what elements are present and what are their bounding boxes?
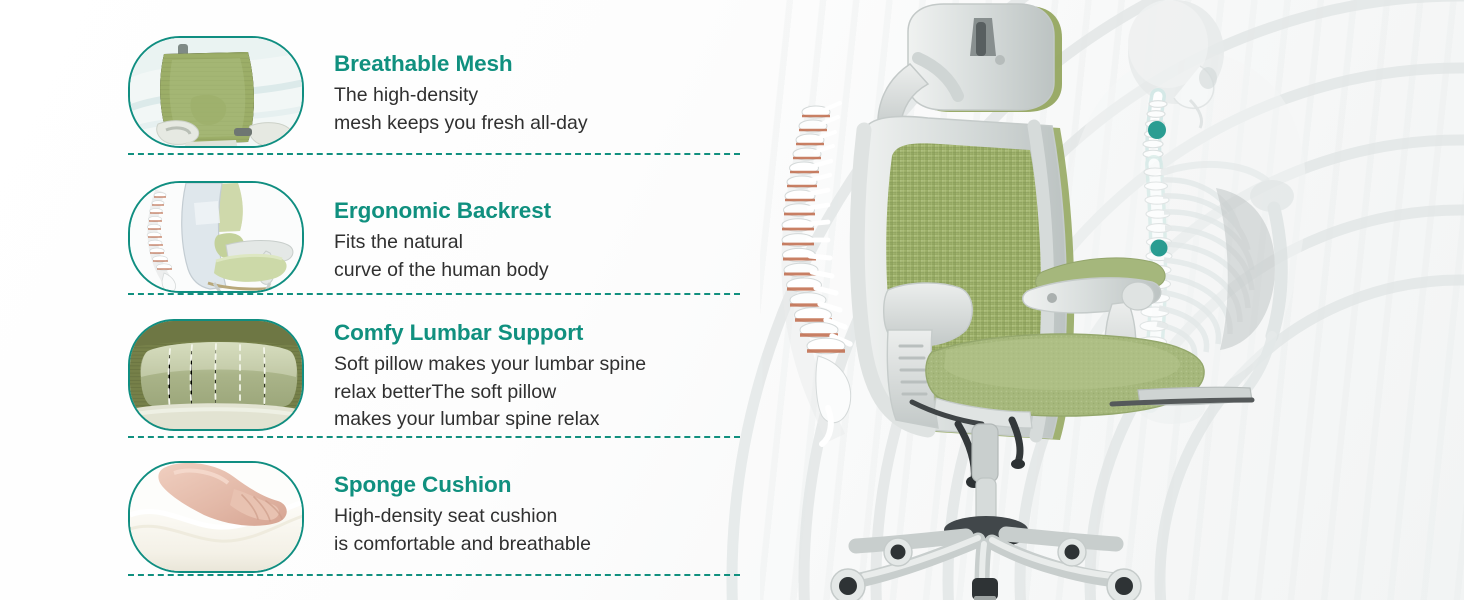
feature-description: The high-density mesh keeps you fresh al…: [334, 82, 588, 137]
thumbnail-sponge-cushion: [128, 461, 304, 573]
feature-divider: [128, 436, 740, 438]
feature-title: Comfy Lumbar Support: [334, 319, 646, 347]
feature-item-comfy-lumbar-support: Comfy Lumbar Support Soft pillow makes y…: [128, 317, 743, 435]
feature-text-breathable-mesh: Breathable Mesh The high-density mesh ke…: [304, 34, 588, 137]
feature-item-sponge-cushion: Sponge Cushion High-density seat cushion…: [128, 459, 743, 575]
feature-description: Soft pillow makes your lumbar spine rela…: [334, 351, 646, 434]
feature-description: High-density seat cushion is comfortable…: [334, 503, 591, 558]
feature-divider: [128, 574, 740, 576]
feature-description: Fits the natural curve of the human body: [334, 229, 551, 284]
support-point-thoracic: [1151, 240, 1168, 257]
feature-divider: [128, 293, 740, 295]
spine-model: [782, 103, 851, 444]
feature-text-sponge-cushion: Sponge Cushion High-density seat cushion…: [304, 459, 591, 558]
support-point-cervical: [1148, 121, 1166, 139]
thumbnail-ergonomic-backrest: [128, 181, 304, 293]
thumbnail-comfy-lumbar-support: [128, 319, 304, 431]
feature-item-ergonomic-backrest: Ergonomic Backrest Fits the natural curv…: [128, 179, 743, 295]
feature-item-breathable-mesh: Breathable Mesh The high-density mesh ke…: [128, 34, 743, 154]
infographic-page: Breathable Mesh The high-density mesh ke…: [0, 0, 1464, 600]
feature-title: Sponge Cushion: [334, 471, 591, 499]
feature-text-ergonomic-backrest: Ergonomic Backrest Fits the natural curv…: [304, 179, 551, 284]
feature-text-comfy-lumbar-support: Comfy Lumbar Support Soft pillow makes y…: [304, 317, 646, 434]
hero-product-image: [760, 0, 1464, 600]
feature-list: Breathable Mesh The high-density mesh ke…: [128, 0, 743, 600]
feature-divider: [128, 153, 740, 155]
feature-title: Ergonomic Backrest: [334, 197, 551, 225]
feature-title: Breathable Mesh: [334, 50, 588, 78]
thumbnail-breathable-mesh: [128, 36, 304, 148]
